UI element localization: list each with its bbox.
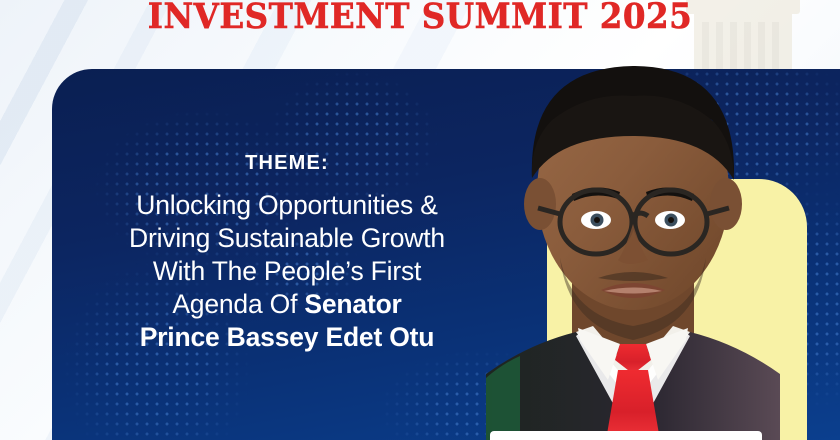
subject-name: Prince Bassey Edet Otu <box>140 322 435 352</box>
theme-line-4: Agenda Of Senator <box>66 288 508 321</box>
theme-line-4-prefix: Agenda Of <box>172 289 304 319</box>
bottom-white-bar <box>490 431 762 440</box>
page-title: INVESTMENT SUMMIT 2025 <box>29 0 810 38</box>
theme-line-1: Unlocking Opportunities & <box>66 189 508 222</box>
theme-line-3: With The People’s First <box>66 255 508 288</box>
theme-statement: Unlocking Opportunities & Driving Sustai… <box>52 189 522 354</box>
investment-summit-poster: INVESTMENT SUMMIT 2025 THEME: Unlocking … <box>0 0 840 440</box>
theme-block: THEME: Unlocking Opportunities & Driving… <box>52 151 522 354</box>
theme-label: THEME: <box>52 151 522 175</box>
theme-line-2: Driving Sustainable Growth <box>66 222 508 255</box>
theme-line-5: Prince Bassey Edet Otu <box>66 321 508 354</box>
portrait-of-senator <box>468 44 798 440</box>
theme-emphasis-senator: Senator <box>304 289 401 319</box>
